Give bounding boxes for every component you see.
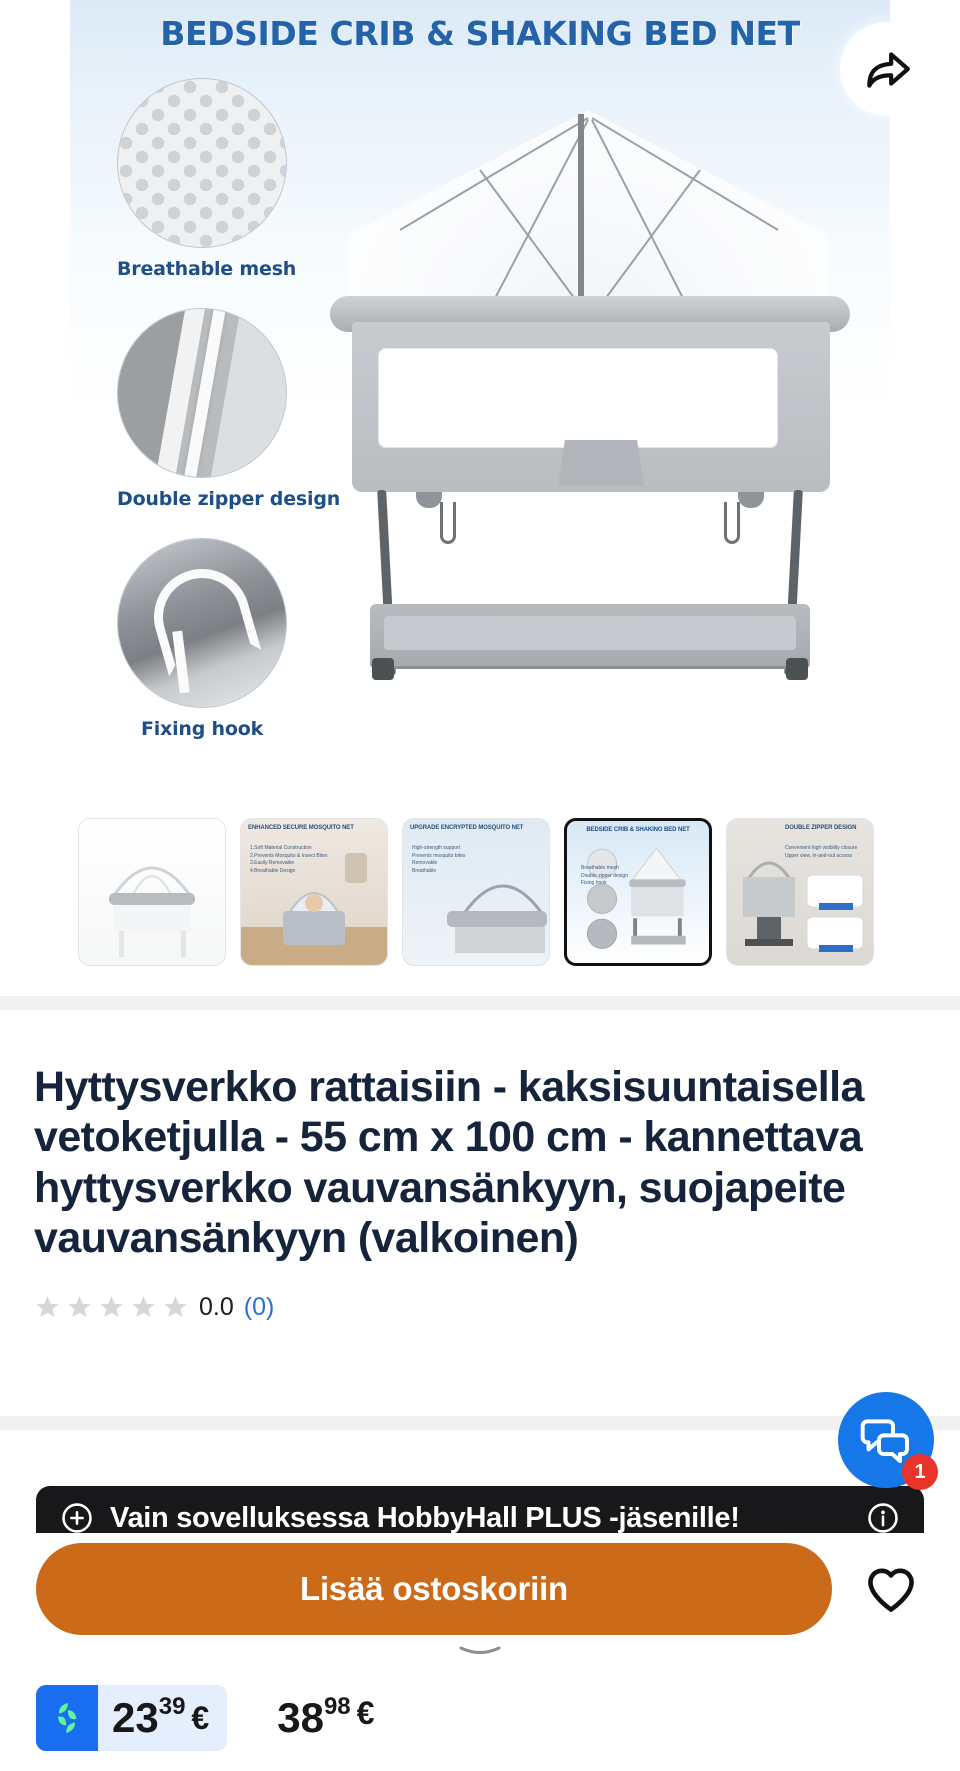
feature-label: Double zipper design bbox=[117, 488, 287, 510]
star-icon bbox=[66, 1294, 93, 1321]
section-divider-bottom bbox=[0, 1416, 960, 1430]
gallery-thumbnail-1[interactable]: ENHANCED SECURE MOSQUITO NET 1.Soft Mate… bbox=[240, 818, 388, 966]
regular-price-whole: 38 bbox=[277, 1697, 324, 1739]
gallery-thumbnail-0[interactable] bbox=[78, 818, 226, 966]
product-detail-screen: BEDSIDE CRIB & SHAKING BED NET Breathabl… bbox=[0, 0, 960, 1771]
thumbnail-bullets: High-strength support Prevents mosquito … bbox=[412, 845, 465, 875]
plus-price-chip[interactable]: 2339€ bbox=[36, 1685, 227, 1751]
add-to-cart-button[interactable]: Lisää ostoskoriin bbox=[36, 1543, 832, 1635]
thumbnail-strip[interactable]: ENHANCED SECURE MOSQUITO NET 1.Soft Mate… bbox=[0, 812, 960, 972]
rating-count[interactable]: (0) bbox=[244, 1293, 275, 1322]
plus-leaf-glyph bbox=[47, 1698, 87, 1738]
info-circle-icon[interactable] bbox=[866, 1501, 900, 1535]
rating-value: 0.0 bbox=[199, 1293, 234, 1322]
plus-price-whole: 23 bbox=[112, 1685, 159, 1751]
feature-breathable-mesh: Breathable mesh bbox=[117, 78, 287, 280]
feature-label: Fixing hook bbox=[117, 718, 287, 740]
crib-product-illustration bbox=[330, 110, 850, 670]
regular-price-currency: € bbox=[357, 1697, 375, 1729]
plus-banner-text: Vain sovelluksessa HobbyHall PLUS -jäsen… bbox=[110, 1502, 740, 1535]
plus-price-cents: 39 bbox=[159, 1695, 186, 1719]
thumbnail-image bbox=[567, 821, 709, 963]
regular-price-cents: 98 bbox=[324, 1695, 351, 1719]
price-row: 2339€ 3898€ bbox=[0, 1664, 960, 1771]
thumbnail-image bbox=[403, 819, 549, 965]
star-rating[interactable] bbox=[34, 1294, 189, 1321]
rating-row[interactable]: 0.0 (0) bbox=[34, 1293, 926, 1322]
favorite-button[interactable] bbox=[858, 1556, 924, 1622]
thumbnail-image bbox=[79, 819, 225, 965]
feature-double-zipper: Double zipper design bbox=[117, 308, 287, 510]
sheet-grabber-chevron-down-icon[interactable] bbox=[457, 1646, 503, 1656]
gallery-thumbnail-2[interactable]: UPGRADE ENCRYPTED MOSQUITO NET High-stre… bbox=[402, 818, 550, 966]
chat-button[interactable]: 1 bbox=[838, 1392, 934, 1488]
plus-member-icon bbox=[60, 1501, 94, 1535]
chat-unread-badge: 1 bbox=[902, 1454, 938, 1490]
plus-price-value: 2339€ bbox=[98, 1685, 227, 1751]
hero-gallery[interactable]: BEDSIDE CRIB & SHAKING BED NET Breathabl… bbox=[0, 0, 960, 800]
plus-price-currency: € bbox=[191, 1685, 209, 1751]
star-icon bbox=[34, 1294, 61, 1321]
thumbnail-bullets: Breathable mesh Double zipper design Fix… bbox=[581, 865, 628, 888]
thumbnail-bullets: 1.Soft Material Construction 2.Prevents … bbox=[250, 845, 328, 875]
thumbnail-image bbox=[727, 819, 873, 965]
product-title: Hyttysverkko rattaisiin - kaksisuuntaise… bbox=[34, 1062, 926, 1263]
hero-banner-title: BEDSIDE CRIB & SHAKING BED NET bbox=[70, 14, 890, 53]
heart-outline-icon bbox=[862, 1560, 920, 1618]
star-icon bbox=[98, 1294, 125, 1321]
zipper-swatch-icon bbox=[117, 308, 287, 478]
regular-price: 3898€ bbox=[277, 1697, 374, 1739]
cta-bar: Lisää ostoskoriin bbox=[0, 1533, 960, 1645]
share-arrow-icon bbox=[862, 44, 912, 94]
star-icon bbox=[130, 1294, 157, 1321]
gallery-thumbnail-4[interactable]: DOUBLE ZIPPER DESIGN Convenient high vis… bbox=[726, 818, 874, 966]
share-button[interactable] bbox=[840, 22, 934, 116]
hobbyhall-plus-logo-icon bbox=[36, 1685, 98, 1751]
product-info: Hyttysverkko rattaisiin - kaksisuuntaise… bbox=[0, 1010, 960, 1322]
thumbnail-bullets: Convenient high visibility closure Upper… bbox=[785, 845, 857, 860]
section-divider-top bbox=[0, 996, 960, 1010]
gallery-thumbnail-3[interactable]: BEDSIDE CRIB & SHAKING BED NET Breathabl… bbox=[564, 818, 712, 966]
feature-fixing-hook: Fixing hook bbox=[117, 538, 287, 740]
mesh-swatch-icon bbox=[117, 78, 287, 248]
canopy-ribs-icon bbox=[330, 110, 850, 320]
thumbnail-image bbox=[241, 819, 387, 965]
feature-label: Breathable mesh bbox=[117, 258, 287, 280]
star-icon bbox=[162, 1294, 189, 1321]
hook-swatch-icon bbox=[117, 538, 287, 708]
